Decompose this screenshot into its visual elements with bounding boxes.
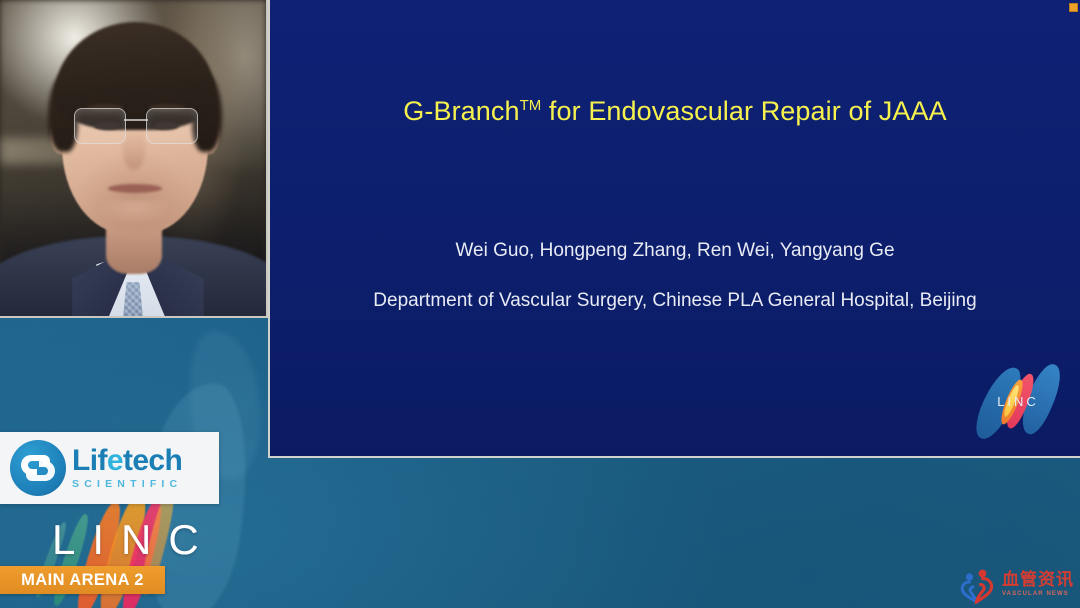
- heart-logo-icon: [957, 564, 997, 604]
- watermark-text: 血管资讯 VASCULAR NEWS: [1002, 572, 1074, 597]
- sponsor-logo-lifetech: Lifetech SCIENTIFIC: [0, 432, 219, 504]
- lifetech-name-part2: tech: [123, 444, 182, 477]
- slide-affiliation: Department of Vascular Surgery, Chinese …: [270, 290, 1080, 312]
- speaker-neck: [106, 228, 162, 274]
- slide-background: [270, 0, 1080, 456]
- speaker-chin: [98, 200, 172, 226]
- lifetech-name: Lifetech: [72, 446, 182, 476]
- trademark-symbol: TM: [520, 97, 542, 114]
- speaker-mouth: [108, 184, 162, 193]
- lifetech-wordmark: Lifetech SCIENTIFIC: [72, 446, 182, 490]
- broadcast-screen: G-BranchTM for Endovascular Repair of JA…: [0, 0, 1080, 608]
- broadcaster-watermark: 血管资讯 VASCULAR NEWS: [957, 564, 1074, 604]
- lifetech-subtitle: SCIENTIFIC: [72, 479, 182, 490]
- slide-authors: Wei Guo, Hongpeng Zhang, Ren Wei, Yangya…: [270, 240, 1080, 262]
- slide-title-product: G-Branch: [403, 96, 519, 126]
- watermark-chinese: 血管资讯: [1002, 572, 1074, 589]
- arena-badge: MAIN ARENA 2: [0, 566, 165, 594]
- linc-logo-icon: LINC: [972, 358, 1064, 450]
- watermark-english: VASCULAR NEWS: [1002, 591, 1074, 597]
- lifetech-logo-icon: [10, 440, 66, 496]
- arena-badge-label: MAIN ARENA 2: [21, 571, 144, 590]
- lifetech-name-part1: Lif: [72, 444, 107, 477]
- slide-title-rest: for Endovascular Repair of JAAA: [549, 96, 947, 126]
- speaker-nose: [123, 132, 145, 170]
- linc-logo-wordmark: LINC: [972, 394, 1064, 409]
- lifetech-name-e: e: [107, 444, 123, 477]
- eyeglass-lens-left: [74, 108, 126, 144]
- event-wordmark-linc: LINC: [52, 516, 216, 564]
- recording-indicator: [1069, 3, 1078, 12]
- presentation-slide[interactable]: G-BranchTM for Endovascular Repair of JA…: [268, 0, 1080, 458]
- slide-title: G-BranchTM for Endovascular Repair of JA…: [270, 96, 1080, 127]
- speaker-video-feed[interactable]: [0, 0, 268, 318]
- eyeglass-lens-right: [146, 108, 198, 144]
- eyeglass-bridge: [124, 119, 148, 121]
